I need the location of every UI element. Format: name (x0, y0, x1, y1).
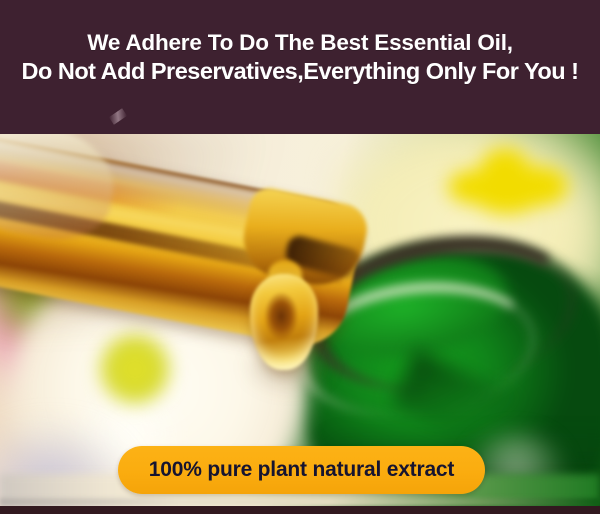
promotional-product-banner: We Adhere To Do The Best Essential Oil, … (0, 0, 600, 514)
footer-strip (0, 506, 600, 514)
purity-badge-label: 100% pure plant natural extract (149, 458, 454, 482)
purity-badge: 100% pure plant natural extract (118, 446, 485, 494)
white-flower-center (96, 330, 174, 408)
headline-block: We Adhere To Do The Best Essential Oil, … (0, 28, 600, 86)
header-bar: We Adhere To Do The Best Essential Oil, … (0, 0, 600, 134)
headline-line-2: Do Not Add Preservatives,Everything Only… (0, 57, 600, 86)
headline-line-1: We Adhere To Do The Best Essential Oil, (0, 28, 600, 57)
photo-bottom-edge-line (0, 498, 600, 506)
